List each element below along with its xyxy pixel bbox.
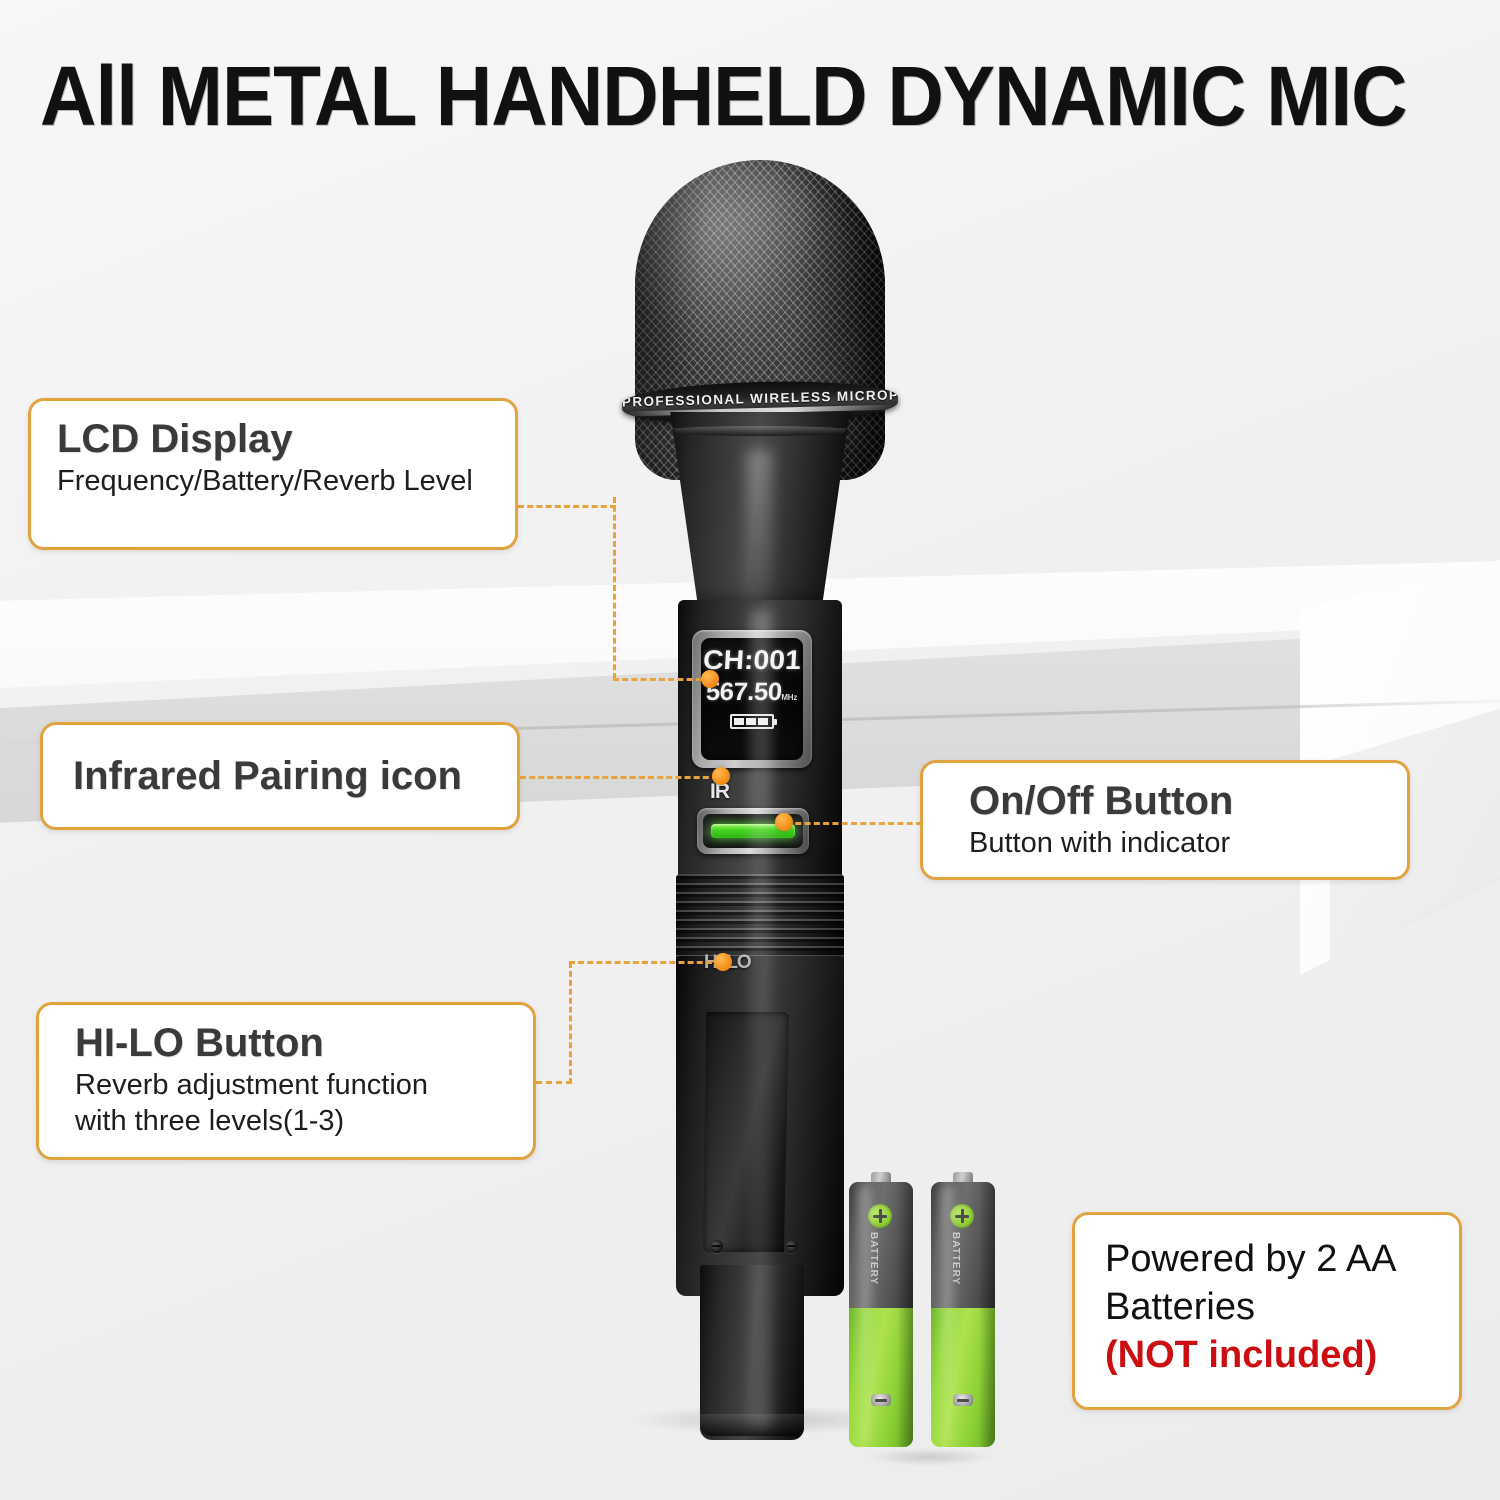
callout-battery-line3: (NOT included) [1105, 1331, 1441, 1379]
aa-batteries-group: BATTERY BATTERY [845, 1172, 1015, 1457]
battery-2-shade [979, 1182, 995, 1447]
callout-lcd-title: LCD Display [57, 415, 497, 463]
callout-battery-line1: Powered by 2 AA [1105, 1235, 1441, 1283]
callout-battery-note: Powered by 2 AA Batteries (NOT included) [1072, 1212, 1462, 1410]
battery-1: BATTERY [849, 1172, 913, 1447]
battery-1-gloss [859, 1184, 871, 1446]
battery-1-minus-icon [871, 1394, 891, 1406]
callout-hilo-subtitle-line1: Reverb adjustment function [75, 1067, 515, 1103]
connector-lcd-seg1 [518, 505, 616, 508]
connector-infrared [520, 776, 718, 779]
battery-1-plus-icon [868, 1204, 892, 1228]
battery-2-gloss [941, 1184, 953, 1446]
lcd-battery-icon [730, 714, 774, 729]
connector-lcd-seg2 [613, 497, 616, 679]
battery-2: BATTERY [931, 1172, 995, 1447]
battery-compartment-door[interactable] [703, 1012, 789, 1252]
connector-hilo-seg1 [536, 1081, 572, 1084]
infographic-canvas: All METAL HANDHELD DYNAMIC MIC PROFESSIO… [0, 0, 1500, 1500]
lcd-display: CH:001 567.50 MHz [701, 638, 803, 760]
callout-onoff-subtitle: Button with indicator [969, 825, 1389, 861]
callout-onoff-title: On/Off Button [969, 777, 1389, 825]
callout-hilo-subtitle-line2: with three levels(1-3) [75, 1103, 515, 1139]
connector-lcd-seg3 [613, 678, 711, 681]
callout-infrared-pairing: Infrared Pairing icon [40, 722, 520, 830]
battery-2-minus-icon [953, 1394, 973, 1406]
threaded-ring [676, 874, 844, 962]
batteries-shadow [839, 1444, 1019, 1470]
microphone-neck-ring [662, 426, 858, 436]
callout-hilo-title: HI-LO Button [75, 1019, 515, 1067]
screw-right [785, 1240, 798, 1253]
callout-battery-line2: Batteries [1105, 1283, 1441, 1331]
connector-hilo-seg3 [569, 961, 721, 964]
callout-infrared-title: Infrared Pairing icon [73, 752, 462, 800]
callout-onoff-button: On/Off Button Button with indicator [920, 760, 1410, 880]
marker-dot-lcd [701, 670, 719, 688]
screw-left [710, 1240, 723, 1253]
neck-highlight [746, 450, 772, 610]
battery-1-shade [897, 1182, 913, 1447]
marker-dot-onoff [775, 813, 793, 831]
lcd-frequency-unit: MHz [781, 693, 797, 705]
connector-hilo-seg2 [569, 962, 572, 1084]
microphone-end-cap [700, 1414, 804, 1436]
callout-lcd-display: LCD Display Frequency/Battery/Reverb Lev… [28, 398, 518, 550]
battery-2-plus-icon [950, 1204, 974, 1228]
lcd-channel-value: CH:001 [701, 645, 803, 675]
callout-lcd-subtitle: Frequency/Battery/Reverb Level [57, 463, 497, 499]
callout-hilo-button: HI-LO Button Reverb adjustment function … [36, 1002, 536, 1160]
connector-onoff [786, 822, 922, 825]
page-title: All METAL HANDHELD DYNAMIC MIC [40, 48, 1361, 144]
marker-dot-hilo [714, 953, 732, 971]
marker-dot-infrared [712, 767, 730, 785]
